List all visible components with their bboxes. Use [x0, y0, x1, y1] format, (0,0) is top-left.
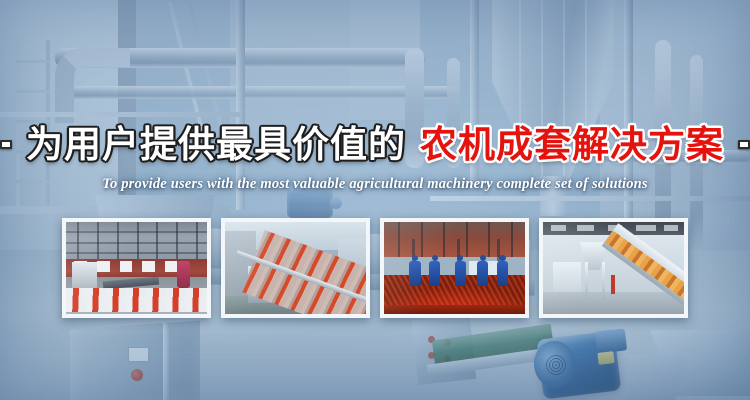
banner-stage: 为用户提供最具价值的 农机成套解决方案 To provide users wit… — [0, 0, 750, 400]
thumbnail-image — [66, 222, 207, 314]
headline-band: 为用户提供最具价值的 农机成套解决方案 To provide users wit… — [0, 118, 750, 206]
thumbnail-image — [543, 222, 684, 314]
thumbnail-conveyor-golden-produce[interactable] — [539, 218, 688, 318]
headline-text-red: 农机成套解决方案 — [420, 126, 724, 163]
subheadline: To provide users with the most valuable … — [0, 170, 750, 198]
thumbnail-workers-chili[interactable] — [380, 218, 529, 318]
thumbnail-image — [225, 222, 366, 314]
headline: 为用户提供最具价值的 农机成套解决方案 — [0, 118, 750, 170]
thumbnail-image — [384, 222, 525, 314]
headline-text-white: 为用户提供最具价值的 — [26, 126, 406, 163]
dash-left-decoration — [0, 140, 12, 149]
dash-right-decoration — [738, 140, 750, 149]
thumbnail-incline-conveyor-red[interactable] — [221, 218, 370, 318]
thumbnail-strip — [62, 218, 688, 318]
thumbnail-factory-hall[interactable] — [62, 218, 211, 318]
